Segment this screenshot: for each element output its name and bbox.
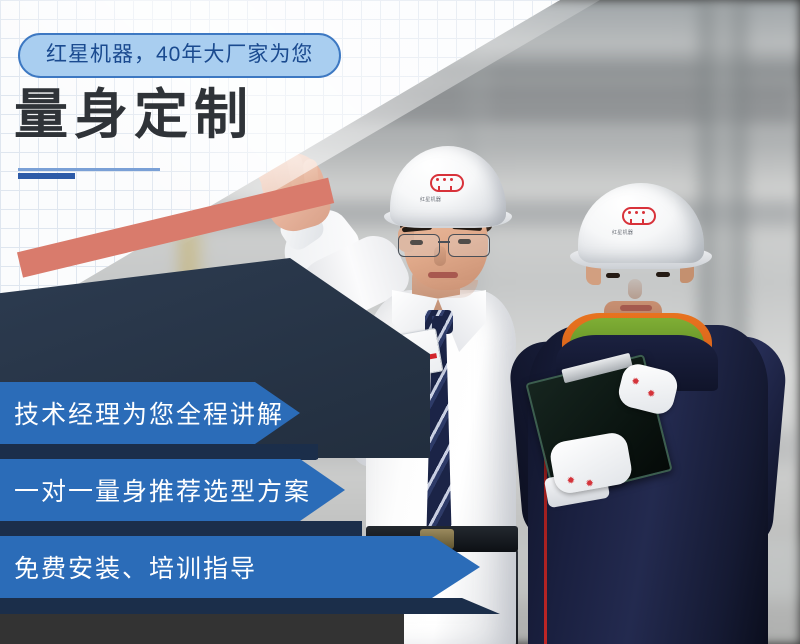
hard-hat: 红星机器 xyxy=(578,183,704,263)
logo-outline xyxy=(622,207,656,225)
hard-hat-brand-text: 红星机器 xyxy=(612,229,633,236)
feature-banner-shadow xyxy=(0,521,362,537)
mouth xyxy=(620,305,652,311)
feature-banner-shadow xyxy=(0,444,318,460)
logo-dot xyxy=(628,211,631,214)
engineer-chin xyxy=(416,280,478,298)
glove-star-pattern xyxy=(565,470,574,479)
hongxing-logo-icon xyxy=(622,203,652,223)
glove-star-pattern xyxy=(584,473,593,482)
logo-leg xyxy=(450,186,452,191)
logo-dot xyxy=(436,178,439,181)
feature-banner-2: 一对一量身推荐选型方案 xyxy=(0,459,345,521)
glove-star-pattern xyxy=(648,383,658,393)
feature-banner-2-label: 一对一量身推荐选型方案 xyxy=(0,472,311,508)
feature-banner-1-label: 技术经理为您全程讲解 xyxy=(0,395,284,431)
feature-banner-shadow xyxy=(0,598,500,614)
lens-left xyxy=(398,234,440,257)
hongxing-logo-icon xyxy=(430,170,460,190)
hard-hat: 红星机器 xyxy=(390,146,506,226)
tagline-pill: 红星机器，40年大厂家为您 xyxy=(18,33,341,78)
logo-leg xyxy=(630,219,632,224)
glasses-bridge xyxy=(438,241,450,243)
title-underline-light xyxy=(18,168,160,171)
lens-right xyxy=(448,234,490,257)
promotional-banner: 红星机器 xyxy=(0,0,800,644)
logo-dot xyxy=(450,178,453,181)
logo-dot xyxy=(635,211,638,214)
feature-banner-3: 免费安装、培训指导 xyxy=(0,536,480,598)
worker-figure: 红星机器 xyxy=(500,185,800,644)
logo-leg xyxy=(642,219,644,224)
nose xyxy=(628,279,642,299)
glove-star-pattern xyxy=(632,371,642,381)
page-title: 量身定制 xyxy=(14,88,254,142)
eye xyxy=(606,273,620,278)
mouth xyxy=(428,272,458,278)
eyeglasses xyxy=(396,234,494,256)
hard-hat-brand-text: 红星机器 xyxy=(420,196,441,203)
logo-outline xyxy=(430,174,464,192)
title-underline-dark xyxy=(18,173,75,179)
eye xyxy=(656,272,670,277)
logo-dot xyxy=(443,178,446,181)
feature-banner-1: 技术经理为您全程讲解 xyxy=(0,382,300,444)
logo-dot xyxy=(642,211,645,214)
feature-banner-3-label: 免费安装、培训指导 xyxy=(0,549,257,585)
logo-leg xyxy=(438,186,440,191)
